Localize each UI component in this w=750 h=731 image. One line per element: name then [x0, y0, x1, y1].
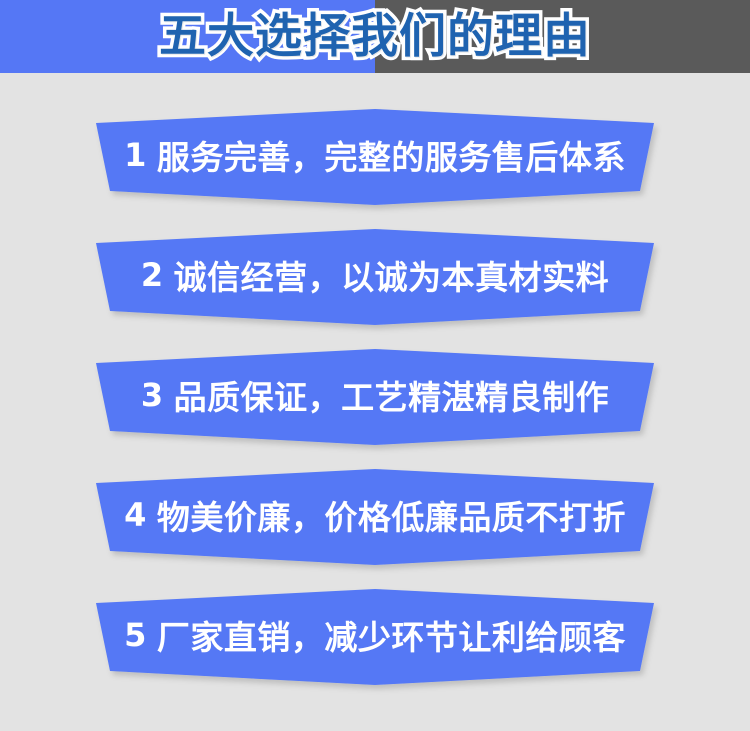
- reasons-list: 1 服务完善，完整的服务售后体系 2 诚信经营，以诚为本真材实料: [0, 73, 750, 731]
- banner-shape-1: [40, 95, 710, 215]
- banner-shape-4: [40, 455, 710, 575]
- list-item[interactable]: 4 物美价廉，价格低廉品质不打折: [0, 455, 750, 575]
- list-item[interactable]: 5 厂家直销，减少环节让利给顾客: [0, 575, 750, 695]
- banner-shape-3: [40, 335, 710, 455]
- list-item[interactable]: 2 诚信经营，以诚为本真材实料: [0, 215, 750, 335]
- banner-shape-2: [40, 215, 710, 335]
- page-header: 五大选择我们的理由: [0, 0, 750, 73]
- banner-shape-5: [40, 575, 710, 695]
- list-item[interactable]: 3 品质保证，工艺精湛精良制作: [0, 335, 750, 455]
- list-item[interactable]: 1 服务完善，完整的服务售后体系: [0, 95, 750, 215]
- page-title: 五大选择我们的理由: [0, 0, 750, 73]
